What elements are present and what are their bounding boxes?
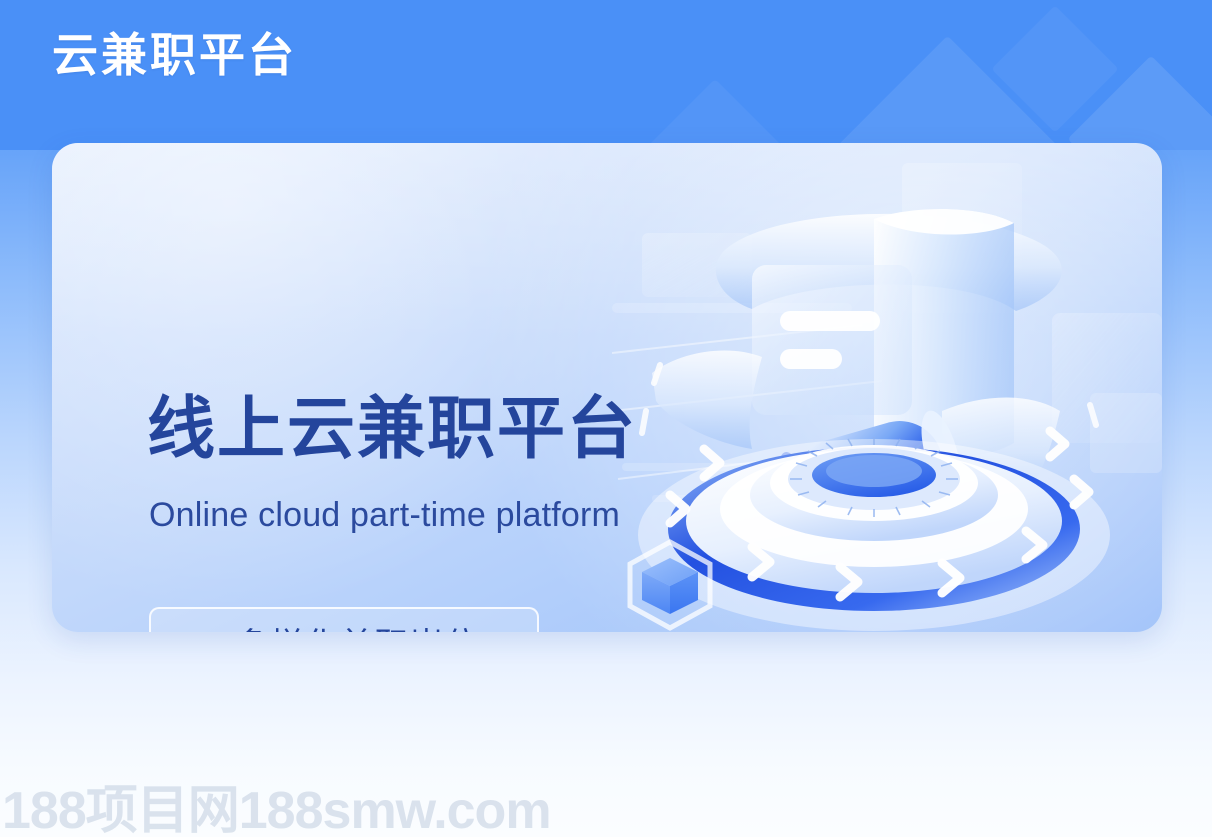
app-root: 云兼职平台 (0, 0, 1212, 837)
cube-icon (618, 534, 723, 634)
banner-title: 线上云兼职平台 (147, 388, 637, 470)
banner-tag-label: 多样化兼职岗位 (235, 618, 480, 632)
banner-feature-tag[interactable]: · 多样化兼职岗位 (149, 607, 539, 632)
page-header: 云兼职平台 (0, 0, 1212, 150)
watermark-text: 188项目网188smw.com (2, 781, 551, 837)
page-title: 云兼职平台 (52, 24, 297, 86)
banner-subtitle: Online cloud part-time platform (149, 493, 620, 537)
announcement-row[interactable]: 关于云兼职APP正式上线的公告 (0, 668, 1212, 788)
banner-tag-bullet: · (208, 623, 221, 632)
promo-banner-card[interactable]: 线上云兼职平台 Online cloud part-time platform … (52, 143, 1162, 632)
